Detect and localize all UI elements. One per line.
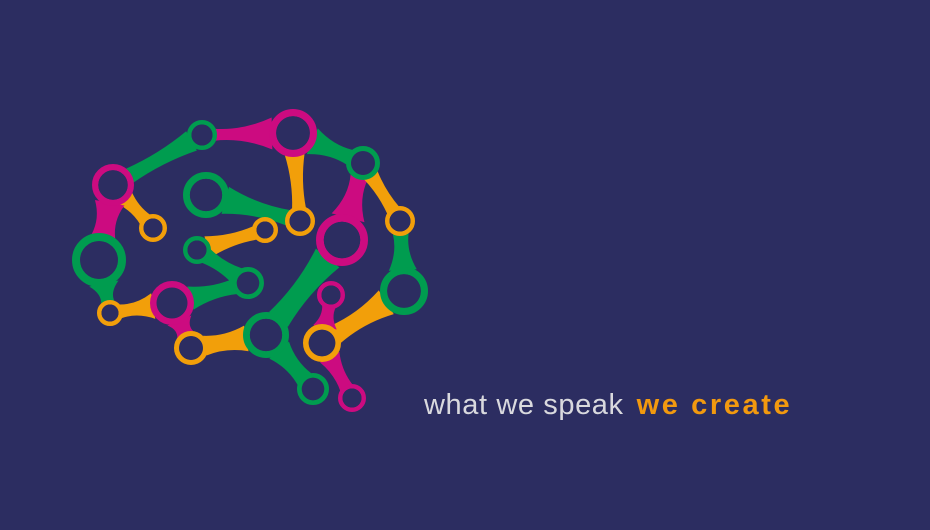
tagline-accent-text: we create (637, 389, 793, 422)
network-node-center (250, 319, 282, 351)
network-node-center (190, 179, 222, 211)
network-link (222, 187, 291, 226)
network-node-center (351, 151, 375, 175)
network-node-center (387, 274, 421, 308)
network-node-layer (76, 113, 424, 410)
network-link (214, 117, 272, 149)
network-node-center (157, 288, 188, 319)
network-node-center (257, 222, 274, 239)
network-node-center (302, 378, 324, 400)
network-link (125, 131, 197, 183)
brain-network-svg (60, 95, 440, 435)
tagline: what we speak we create (424, 389, 792, 425)
network-link (119, 293, 156, 319)
network-node-center (276, 116, 310, 150)
network-node-center (322, 286, 341, 305)
network-node-center (309, 330, 336, 357)
network-node-center (144, 219, 163, 238)
network-node-center (290, 211, 311, 232)
network-link (92, 200, 125, 239)
network-node-center (179, 336, 203, 360)
network-link (389, 233, 417, 271)
network-node-center (102, 305, 119, 322)
network-link (203, 326, 248, 356)
network-node-center (324, 222, 360, 258)
brain-network-logo (60, 95, 440, 435)
network-link (285, 153, 306, 209)
logo-canvas: what we speak we create (0, 0, 930, 530)
network-node-center (98, 170, 127, 199)
network-link (187, 279, 237, 310)
network-node-center (343, 389, 362, 408)
network-node-center (192, 125, 213, 146)
tagline-plain-text: what we speak (424, 389, 624, 422)
network-node-center (80, 241, 118, 279)
network-node-center (188, 241, 207, 260)
network-node-center (237, 272, 259, 294)
network-node-center (390, 211, 411, 232)
